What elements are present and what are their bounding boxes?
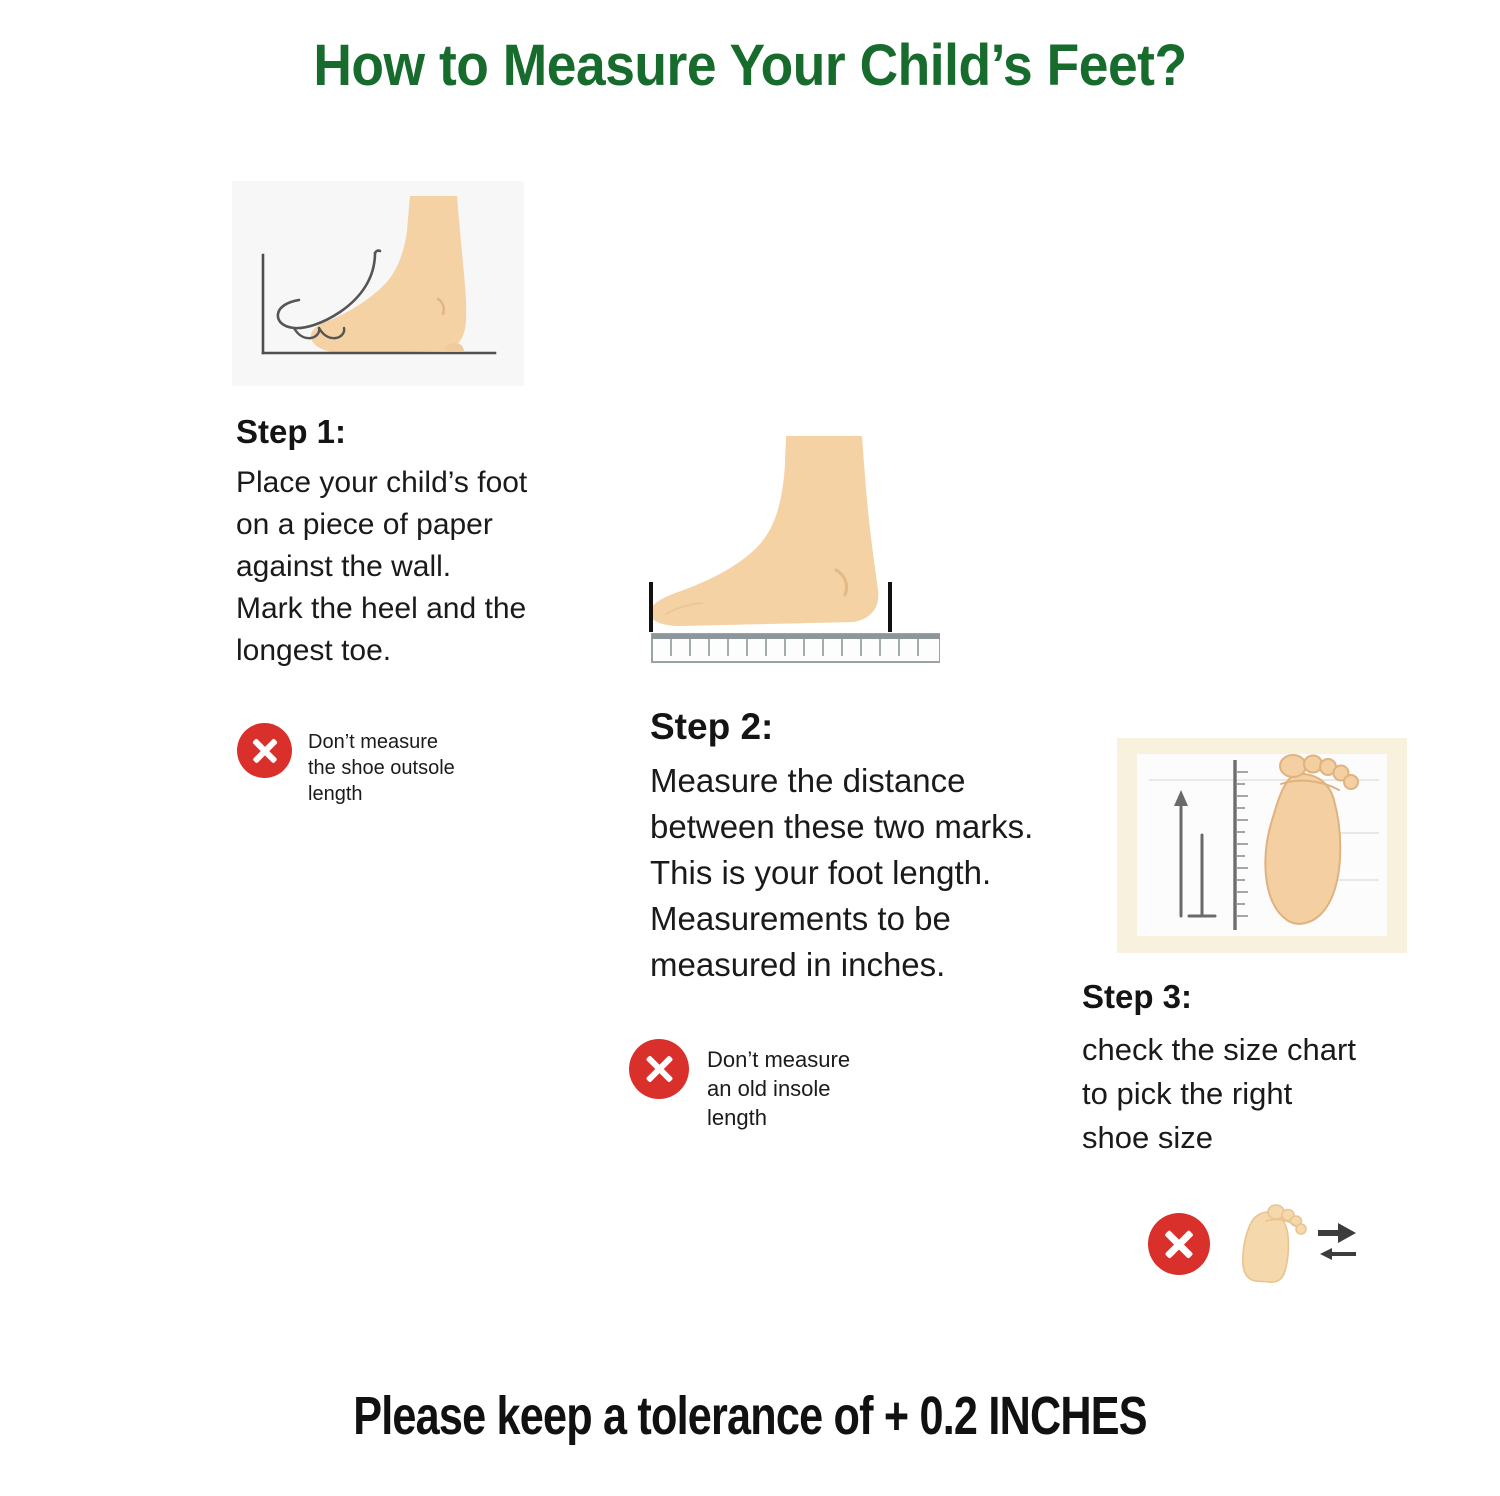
red-x-circle-icon [629,1039,689,1099]
step-1-body: Place your child’s foot on a piece of pa… [236,462,527,672]
step-2-warning: Don’t measure an old insole length [629,1039,850,1132]
foot-sole-icon [1232,1203,1308,1285]
step-2-body: Measure the distance between these two m… [650,758,1033,988]
red-x-circle-icon [237,723,292,778]
step-2-illustration [640,428,940,668]
step-1-illustration [232,181,524,386]
tolerance-note: Please keep a tolerance of + 0.2 INCHES [150,1385,1350,1447]
step-2-warning-text: Don’t measure an old insole length [707,1039,850,1132]
step-1-warning-text: Don’t measure the shoe outsole length [308,723,455,807]
step-3-warning [1148,1203,1360,1285]
infographic-page: How to Measure Your Child’s Feet? Step 1… [0,0,1500,1496]
compression-arrows-icon [1316,1214,1360,1274]
red-x-circle-icon [1148,1213,1210,1275]
step-1-warning: Don’t measure the shoe outsole length [237,723,455,807]
step-1-heading: Step 1: [236,413,346,451]
step-3-illustration [1117,738,1407,953]
step-2-heading: Step 2: [650,706,773,748]
step-3-heading: Step 3: [1082,978,1192,1016]
page-title: How to Measure Your Child’s Feet? [60,32,1440,99]
step-3-body: check the size chart to pick the right s… [1082,1028,1356,1160]
